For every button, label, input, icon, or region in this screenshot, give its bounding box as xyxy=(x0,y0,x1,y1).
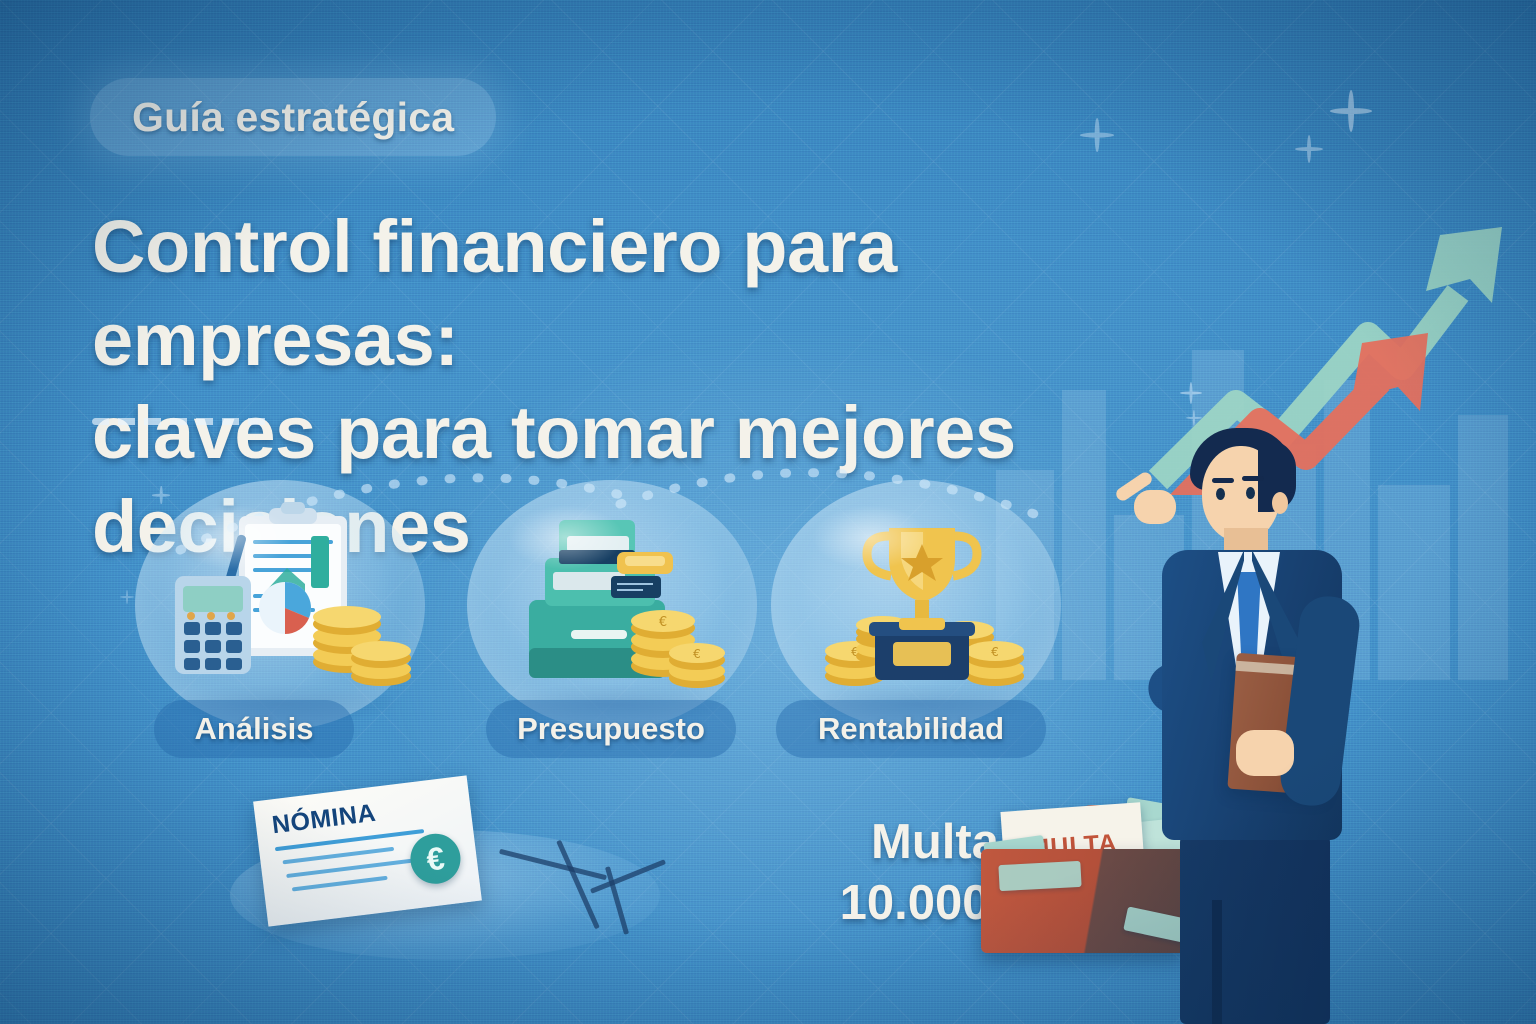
hero-illustration: Guía estratégica Control financiero para… xyxy=(0,0,1536,1024)
background-vignette xyxy=(0,0,1536,1024)
